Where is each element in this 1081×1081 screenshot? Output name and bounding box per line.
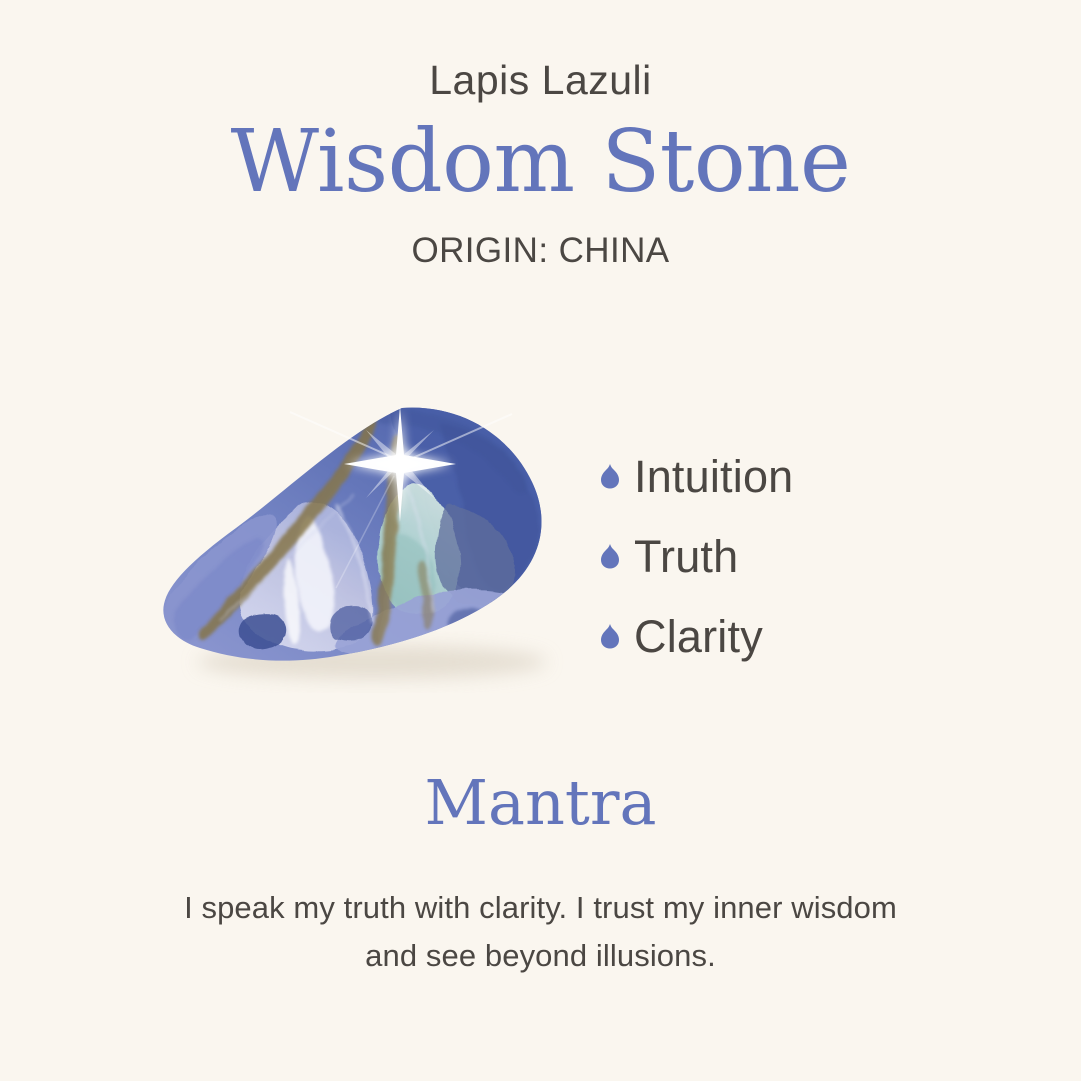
mantra-body-text: I speak my truth with clarity. I trust m… [161, 884, 921, 980]
list-item: Clarity [600, 596, 1020, 676]
stone-illustration [140, 384, 570, 714]
origin-label: ORIGIN: CHINA [0, 233, 1081, 268]
property-label: Intuition [634, 454, 793, 499]
properties-list: Intuition Truth Clarity [600, 436, 1020, 676]
lapis-lazuli-watercolor-stone [140, 384, 570, 714]
stone-and-properties: Intuition Truth Clarity [0, 384, 1081, 720]
list-item: Truth [600, 516, 1020, 596]
stone-name-eyebrow: Lapis Lazuli [0, 60, 1081, 101]
stone-info-card: Lapis Lazuli Wisdom Stone ORIGIN: CHINA [0, 0, 1081, 1081]
gem-bullet-icon [600, 463, 620, 489]
property-label: Truth [634, 534, 738, 579]
list-item: Intuition [600, 436, 1020, 516]
mantra-section: Mantra I speak my truth with clarity. I … [0, 772, 1081, 980]
gem-bullet-icon [600, 623, 620, 649]
card-header: Lapis Lazuli Wisdom Stone ORIGIN: CHINA [0, 0, 1081, 268]
page-title: Wisdom Stone [0, 117, 1081, 207]
gem-bullet-icon [600, 543, 620, 569]
property-label: Clarity [634, 614, 763, 659]
mantra-heading: Mantra [0, 772, 1081, 834]
